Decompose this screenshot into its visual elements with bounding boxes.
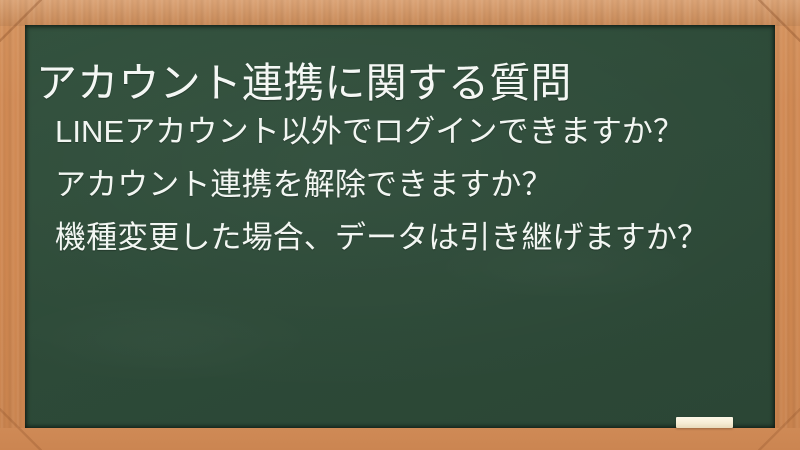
- question-item-2: アカウント連携を解除できますか？: [55, 158, 765, 211]
- question-item-1: LINEアカウント以外でログインできますか？: [55, 105, 765, 158]
- question-list: LINEアカウント以外でログインできますか？ アカウント連携を解除できますか？ …: [55, 105, 765, 264]
- board-title: アカウント連携に関する質問: [36, 57, 756, 109]
- chalkboard-slide: アカウント連携に関する質問 LINEアカウント以外でログインできますか？ アカウ…: [0, 0, 800, 450]
- frame-bottom-ledge: [0, 428, 800, 450]
- chalkboard-surface: アカウント連携に関する質問 LINEアカウント以外でログインできますか？ アカウ…: [25, 25, 775, 428]
- chalk-stick: [676, 417, 733, 428]
- question-item-3: 機種変更した場合、データは引き継げますか？: [55, 211, 765, 264]
- frame-top-rail: [0, 0, 800, 26]
